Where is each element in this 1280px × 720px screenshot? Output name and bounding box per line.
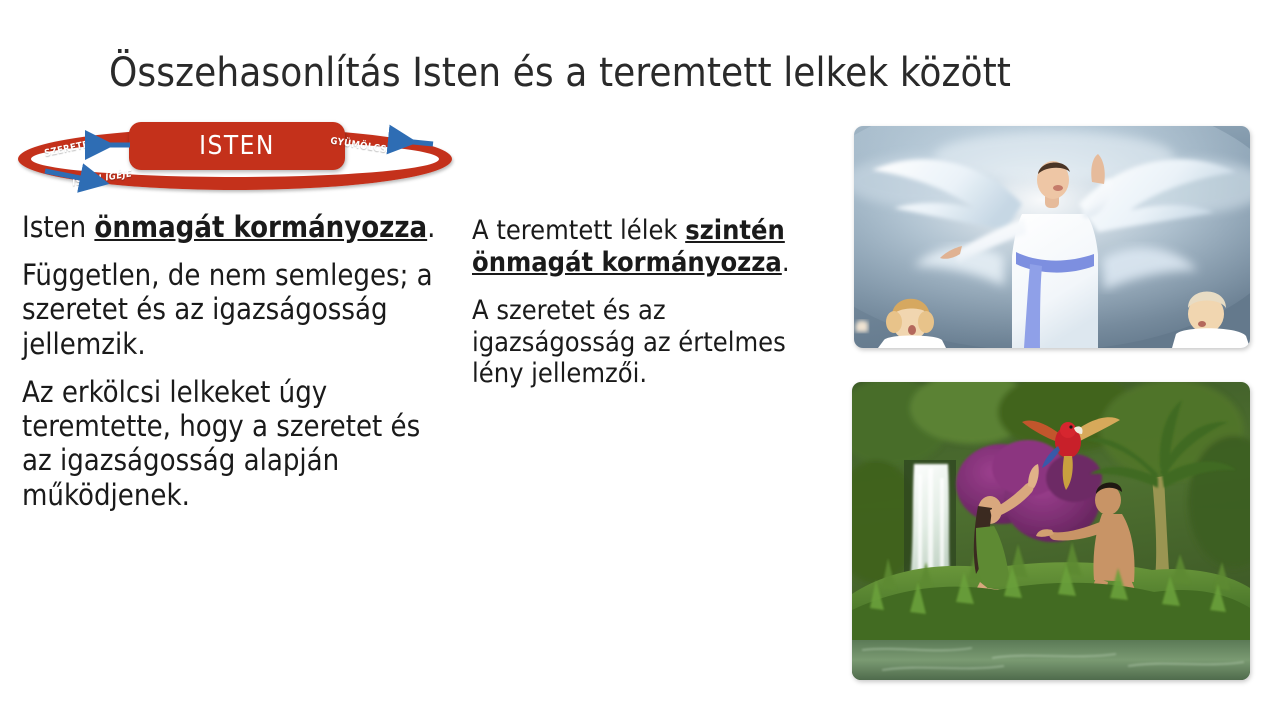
paragraph-left-2-text: Független, de nem semleges; a szeretet é… <box>22 258 433 360</box>
arrow-left-gyumolcs-icon <box>385 135 435 151</box>
garden-eden-photo-graphic <box>852 382 1250 680</box>
angels-photo <box>854 126 1250 348</box>
body-column-right: A teremtett lélek szintén önmagát kormán… <box>472 215 832 406</box>
arrow-right-isten-igeje-icon <box>43 167 93 185</box>
paragraph-left-2: Független, de nem semleges; a szeretet é… <box>22 258 452 361</box>
paragraph-right-2: A szeretet és az igazságosság az értelme… <box>472 295 832 391</box>
isten-center-box: ISTEN <box>129 122 345 170</box>
arrow-left-szeretet-icon <box>82 138 132 154</box>
body-column-left: Isten önmagát kormányozza. Független, de… <box>22 210 452 526</box>
paragraph-left-3: Az erkölcsi lelkeket úgy teremtette, hog… <box>22 375 452 512</box>
isten-center-label: ISTEN <box>199 133 275 159</box>
paragraph-right-1-prefix: A teremtett lélek <box>472 215 685 246</box>
slide-root: Összehasonlítás Isten és a teremtett lel… <box>0 0 1280 720</box>
paragraph-left-1-suffix: . <box>427 210 435 244</box>
paragraph-left-1-emphasis: önmagát kormányozza <box>94 210 427 244</box>
paragraph-left-1-prefix: Isten <box>22 210 94 244</box>
paragraph-right-1-suffix: . <box>782 247 790 278</box>
page-title: Összehasonlítás Isten és a teremtett lel… <box>60 45 1060 101</box>
garden-eden-photo <box>852 382 1250 680</box>
angels-photo-graphic <box>854 126 1250 348</box>
paragraph-right-2-text: A szeretet és az igazságosság az értelme… <box>472 295 786 390</box>
paragraph-left-1: Isten önmagát kormányozza. <box>22 210 452 244</box>
paragraph-left-3-text: Az erkölcsi lelkeket úgy teremtette, hog… <box>22 375 420 512</box>
paragraph-right-1: A teremtett lélek szintén önmagát kormán… <box>472 215 832 279</box>
